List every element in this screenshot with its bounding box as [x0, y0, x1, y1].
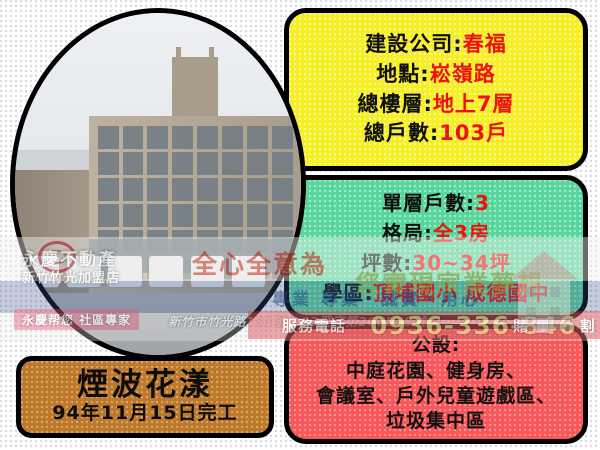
poster-canvas: 建設公司:春福 地點:崧嶺路 總樓層:地上7層 總戶數:103戶 單層戶數:3 … [0, 0, 600, 450]
spec-value-units-per-floor: 3 [475, 191, 490, 215]
building-photo-frame [10, 8, 306, 360]
spec-row-layout: 格局:全3房 [382, 218, 490, 248]
photo-parked-cars [21, 256, 278, 287]
project-name-plate: 煙波花漾 94年11月15日完工 [16, 356, 274, 438]
spec-row-size: 坪數:30~34坪 [361, 248, 510, 278]
spec-box-green: 單層戶數:3 格局:全3房 坪數:30~34坪 學區:頂埔國小 成德國中 [284, 175, 588, 320]
spec-value-floors: 地上7層 [433, 92, 515, 116]
building-exterior-photo [15, 13, 301, 355]
amenities-line-1: 中庭花園、健身房、 [346, 359, 526, 384]
spec-row-school: 學區:頂埔國小 成德國中 [323, 278, 550, 308]
project-name: 煙波花漾 [77, 369, 213, 402]
spec-label-location: 地點: [376, 62, 429, 86]
spec-label-layout: 格局: [382, 221, 433, 245]
spec-value-developer: 春福 [463, 32, 507, 56]
spec-row-floors: 總樓層:地上7層 [357, 90, 514, 120]
spec-label-units: 總戶數: [364, 121, 439, 145]
spec-box-red-amenities: 公設: 中庭花園、健身房、 會議室、戶外兒童遊戲區、 垃圾集中區 [284, 324, 588, 444]
spec-row-units-per-floor: 單層戶數:3 [382, 188, 490, 218]
spec-value-layout: 全3房 [433, 221, 490, 245]
spec-row-location: 地點:崧嶺路 [376, 60, 495, 90]
spec-box-yellow: 建設公司:春福 地點:崧嶺路 總樓層:地上7層 總戶數:103戶 [284, 8, 588, 171]
spec-value-location: 崧嶺路 [430, 62, 496, 86]
amenities-line-2: 會議室、戶外兒童遊戲區、 [316, 384, 556, 409]
spec-label-size: 坪數: [361, 251, 412, 275]
spec-label-units-per-floor: 單層戶數: [382, 191, 475, 215]
spec-value-school: 頂埔國小 成德國中 [374, 281, 550, 305]
spec-value-size: 30~34坪 [412, 251, 510, 275]
amenities-title: 公設: [412, 333, 461, 358]
spec-label-floors: 總樓層: [357, 92, 432, 116]
spec-value-units: 103戶 [439, 121, 508, 145]
spec-label-developer: 建設公司: [365, 32, 462, 56]
spec-row-units: 總戶數:103戶 [364, 119, 508, 149]
amenities-line-3: 垃圾集中區 [386, 409, 486, 434]
spec-label-school: 學區: [323, 281, 374, 305]
spec-row-developer: 建設公司:春福 [365, 30, 506, 60]
project-completion-date: 94年11月15日完工 [52, 402, 237, 425]
